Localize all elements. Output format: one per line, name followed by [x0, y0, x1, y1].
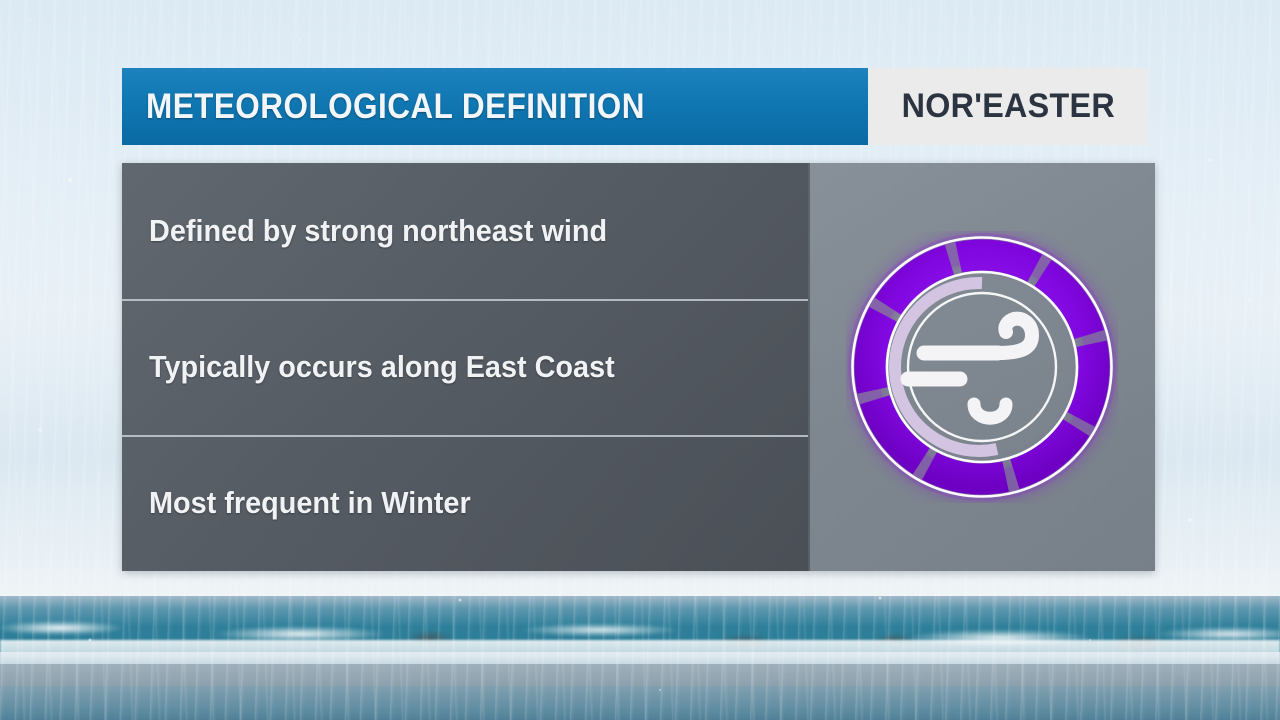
brand-box: NOR'EASTER: [868, 68, 1148, 145]
fact-list: Defined by strong northeast wind Typical…: [122, 163, 808, 571]
wind-glyph: [908, 319, 1032, 419]
wind-icon: [846, 231, 1118, 503]
fact-text: Most frequent in Winter: [149, 485, 471, 521]
page-title: METEOROLOGICAL DEFINITION: [146, 87, 645, 127]
fact-text: Typically occurs along East Coast: [149, 349, 615, 385]
header: METEOROLOGICAL DEFINITION NOR'EASTER: [122, 68, 1148, 145]
content-panel: Defined by strong northeast wind Typical…: [122, 163, 1155, 571]
progress-arc: [895, 283, 997, 451]
brand-label: NOR'EASTER: [901, 87, 1114, 126]
ring-inner-outline-circle: [887, 272, 1077, 462]
weather-graphic: METEOROLOGICAL DEFINITION NOR'EASTER Def…: [0, 0, 1280, 720]
fact-text: Defined by strong northeast wind: [149, 213, 607, 249]
list-item: Typically occurs along East Coast: [122, 299, 808, 435]
title-bar: METEOROLOGICAL DEFINITION: [122, 68, 868, 145]
list-item: Most frequent in Winter: [122, 435, 808, 571]
icon-panel: [808, 163, 1155, 571]
list-item: Defined by strong northeast wind: [122, 163, 808, 299]
